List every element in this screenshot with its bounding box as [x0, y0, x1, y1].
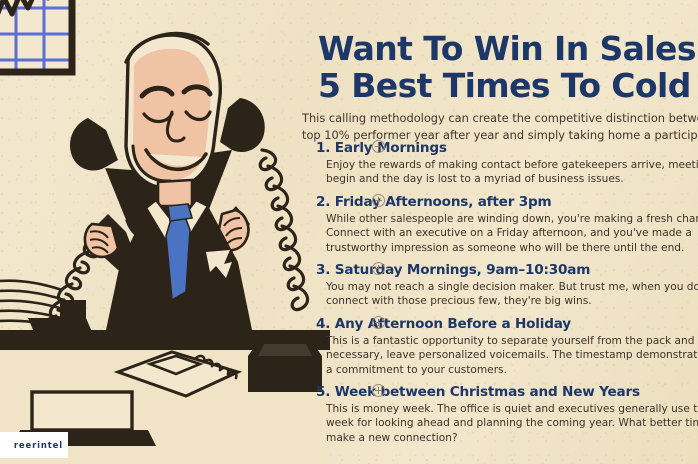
tip-body-line: week for looking ahead and planning the … [326, 416, 698, 430]
tip-body-line: While other salespeople are winding down… [326, 212, 698, 226]
tip-body: This is money week. The office is quiet … [326, 402, 698, 448]
list-item: 5. Week between Christmas and New Years … [292, 384, 698, 448]
headline-line-1: Want To Win In Sales? [318, 29, 698, 68]
list-item: 2. Friday Afternoons, after 3pm While ot… [292, 194, 698, 258]
tip-body-line: You may not reach a single decision make… [326, 280, 698, 294]
circled-plus-icon[interactable] [372, 262, 385, 275]
tip-body-line: This is a fantastic opportunity to separ… [326, 334, 698, 348]
content-column: Want To Win In Sales? 5 Best Times To Co… [292, 0, 698, 464]
headline-line-2: 5 Best Times To Cold Call [318, 67, 698, 104]
page-title: Want To Win In Sales? 5 Best Times To Co… [318, 30, 698, 104]
tip-body-line: necessary, leave personalized voicemails… [326, 348, 698, 362]
circled-plus-icon[interactable] [372, 316, 385, 329]
tip-body-line: Enjoy the rewards of making contact befo… [326, 158, 698, 172]
wall-line-chart [0, 0, 72, 72]
tip-body-line: This is money week. The office is quiet … [326, 402, 698, 416]
tip-body-line: Connect with an executive on a Friday af… [326, 226, 698, 240]
list-item: 1. Early Mornings Enjoy the rewards of m… [292, 140, 698, 190]
tip-body: You may not reach a single decision make… [326, 280, 698, 312]
logo-text: reerintel [14, 440, 63, 450]
tip-body-line: connect with those precious few, they're… [326, 294, 698, 308]
list-item: 3. Saturday Mornings, 9am–10:30am You ma… [292, 262, 698, 312]
circled-plus-icon[interactable] [372, 194, 385, 207]
tip-body-line: make a new connection? [326, 431, 698, 445]
tips-list: 1. Early Mornings Enjoy the rewards of m… [292, 140, 698, 452]
paper-tray [28, 318, 92, 332]
infographic-poster: Want To Win In Sales? 5 Best Times To Co… [0, 0, 698, 464]
tip-body: This is a fantastic opportunity to separ… [326, 334, 698, 380]
tip-body: Enjoy the rewards of making contact befo… [326, 158, 698, 190]
intro-line-1: This calling methodology can create the … [302, 110, 698, 127]
salesman-head [126, 34, 220, 189]
left-hand [85, 224, 118, 257]
tip-body-line: trustworthy impression as someone who wi… [326, 241, 698, 255]
list-item: 4. Any Afternoon Before a Holiday This i… [292, 316, 698, 380]
tip-body: While other salespeople are winding down… [326, 212, 698, 258]
paper-tray-riser [60, 300, 86, 318]
tip-body-line: a commitment to your customers. [326, 363, 698, 377]
circled-plus-icon[interactable] [372, 384, 385, 397]
tip-body-line: begin and the day is lost to a myriad of… [326, 172, 698, 186]
logo-badge[interactable]: reerintel [0, 432, 68, 458]
salesman-two-phones-illustration [0, 0, 330, 464]
circled-plus-icon[interactable] [372, 140, 385, 153]
